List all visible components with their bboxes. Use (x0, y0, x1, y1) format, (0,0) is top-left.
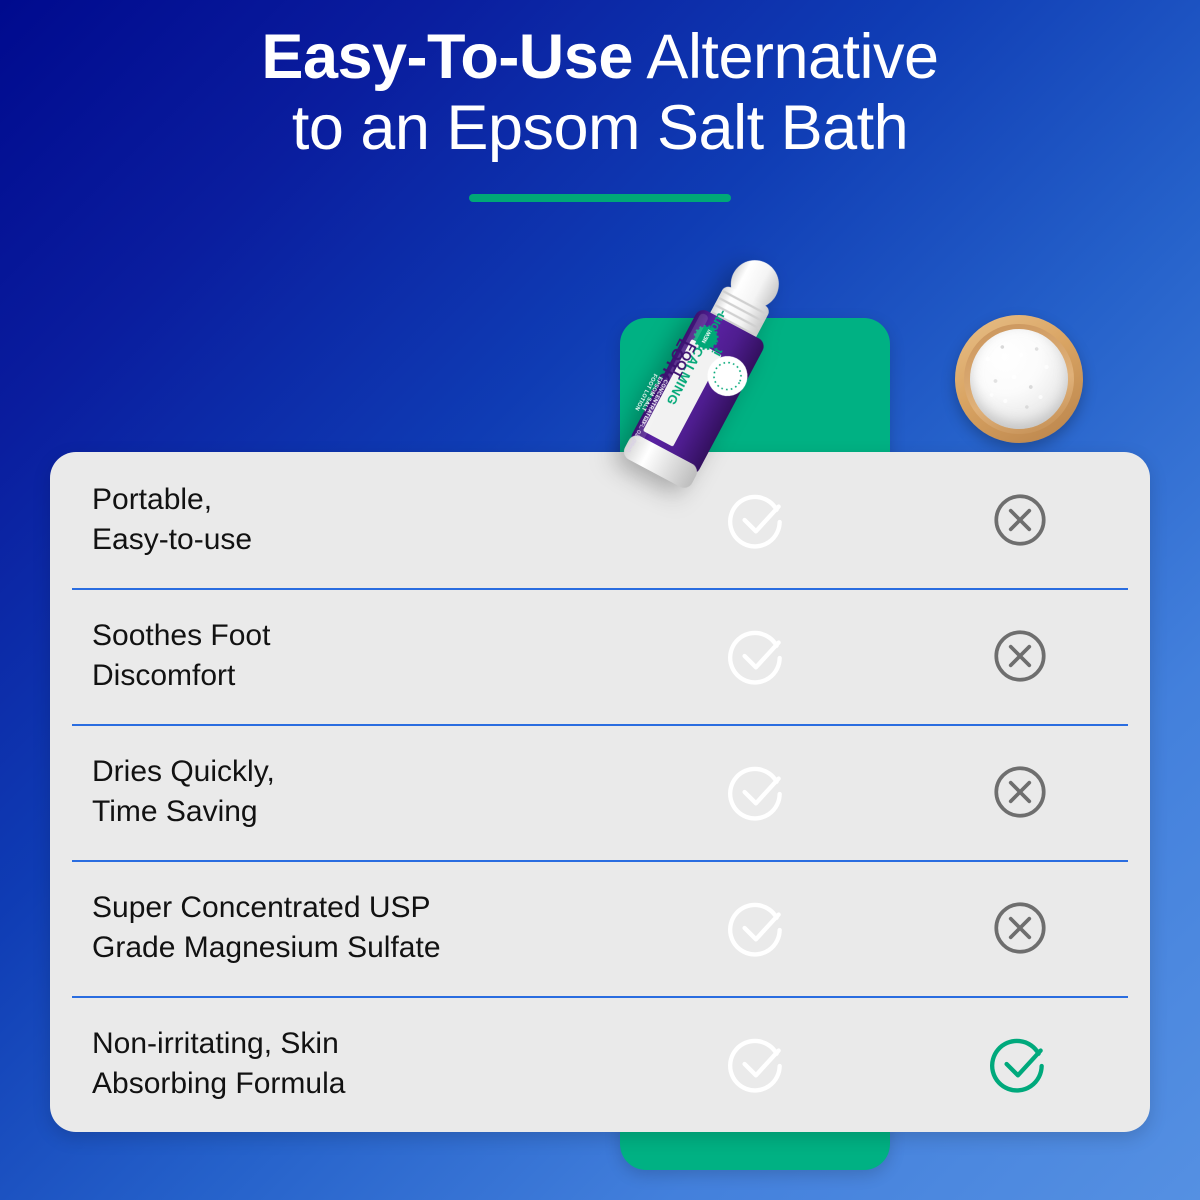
alternative-column-cell (890, 623, 1150, 689)
infographic-canvas: Easy-To-Use Alternativeto an Epsom Salt … (0, 0, 1200, 1200)
check-circle-icon (725, 759, 791, 825)
salt-mound (970, 329, 1068, 429)
check-circle-green-icon (987, 1031, 1053, 1097)
cross-circle-icon (987, 759, 1053, 825)
header: Easy-To-Use Alternativeto an Epsom Salt … (0, 22, 1200, 202)
table-row: Soothes Foot Discomfort (50, 588, 1150, 724)
page-title-emphasis: Easy-To-Use (261, 22, 632, 92)
feature-label: Portable, Easy-to-use (50, 480, 620, 560)
cross-circle-icon (987, 895, 1053, 961)
table-row: Super Concentrated USP Grade Magnesium S… (50, 860, 1150, 996)
page-title: Easy-To-Use Alternativeto an Epsom Salt … (0, 22, 1200, 163)
cross-circle-icon (987, 623, 1053, 689)
alternative-column-cell (890, 759, 1150, 825)
alternative-column-cell (890, 1031, 1150, 1097)
check-circle-icon (725, 623, 791, 689)
feature-label: Dries Quickly, Time Saving (50, 752, 620, 832)
check-circle-icon (725, 1031, 791, 1097)
salt-grain-texture (970, 329, 1068, 429)
table-row: Dries Quickly, Time Saving (50, 724, 1150, 860)
page-title-line2: to an Epsom Salt Bath (292, 93, 908, 163)
product-column-cell (625, 895, 890, 961)
epsom-salt-bowl-image (955, 315, 1083, 443)
alternative-column-cell (890, 895, 1150, 961)
check-circle-icon (725, 895, 791, 961)
check-circle-icon (725, 487, 791, 553)
feature-label: Super Concentrated USP Grade Magnesium S… (50, 888, 620, 968)
accent-divider-bar (469, 194, 731, 202)
product-column-cell (625, 623, 890, 689)
feature-label: Non-irritating, Skin Absorbing Formula (50, 1024, 620, 1104)
product-column-cell (625, 759, 890, 825)
feature-label: Soothes Foot Discomfort (50, 616, 620, 696)
table-row: Non-irritating, Skin Absorbing Formula (50, 996, 1150, 1132)
alternative-column-cell (890, 487, 1150, 553)
comparison-table: Portable, Easy-to-use S (50, 452, 1150, 1132)
page-title-rest: Alternative (633, 22, 939, 92)
table-row: Portable, Easy-to-use (50, 452, 1150, 588)
cross-circle-icon (987, 487, 1053, 553)
product-column-cell (625, 1031, 890, 1097)
